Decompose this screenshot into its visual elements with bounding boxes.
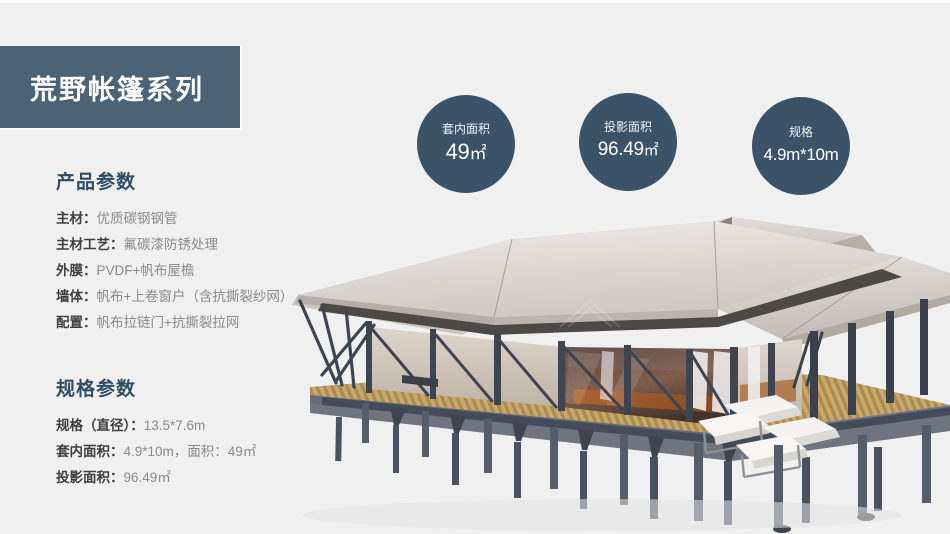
stat-value: 49㎡ [446,139,487,166]
param-value: 优质碳钢钢管 [97,211,178,226]
param-key: 投影面积： [56,470,124,485]
param-value: PVDF+帆布屋檐 [97,263,195,278]
param-value: 13.5*7.6m [144,418,206,433]
param-key: 套内面积： [56,444,124,459]
stat-label: 投影面积 [604,120,652,135]
stat-number: 96.49 [598,139,644,160]
stat-value: 4.9m*10m [763,142,838,168]
param-value: 4.9*10m，面积：49㎡ [124,444,257,459]
param-key: 主材： [56,211,97,226]
product-params-heading: 产品参数 [56,167,356,194]
param-key: 主材工艺： [56,237,124,252]
param-value: 帆布拉链门+抗撕裂拉网 [97,315,240,330]
tent-render-image [262,199,950,534]
stat-circle-interior-area: 套内面积 49㎡ [417,95,515,193]
title-banner: 荒野帐篷系列 [0,46,242,130]
param-value: 氟碳漆防锈处理 [124,237,219,252]
stat-value: 96.49㎡ [598,137,659,164]
param-key: 墙体： [56,289,97,304]
param-key: 外膜： [56,263,97,278]
stat-label: 套内面积 [442,122,490,137]
stat-number: 4.9m*10m [763,145,838,164]
stat-unit: ㎡ [470,143,487,163]
stat-unit: ㎡ [644,143,659,159]
stat-circle-dimensions: 规格 4.9m*10m [752,97,850,195]
param-value: 96.49㎡ [124,470,171,485]
stat-number: 49 [446,139,470,164]
param-key: 规格（直径）： [56,418,144,433]
stat-circle-projected-area: 投影面积 96.49㎡ [579,93,677,191]
stat-label: 规格 [789,125,813,140]
stat-circle-group: 套内面积 49㎡ 投影面积 96.49㎡ 规格 4.9m*10m [414,93,914,195]
param-key: 配置： [56,315,97,330]
slide-page: 荒野帐篷系列 产品参数 主材：优质碳钢钢管 主材工艺：氟碳漆防锈处理 外膜：PV… [0,0,950,534]
page-title: 荒野帐篷系列 [0,68,204,107]
